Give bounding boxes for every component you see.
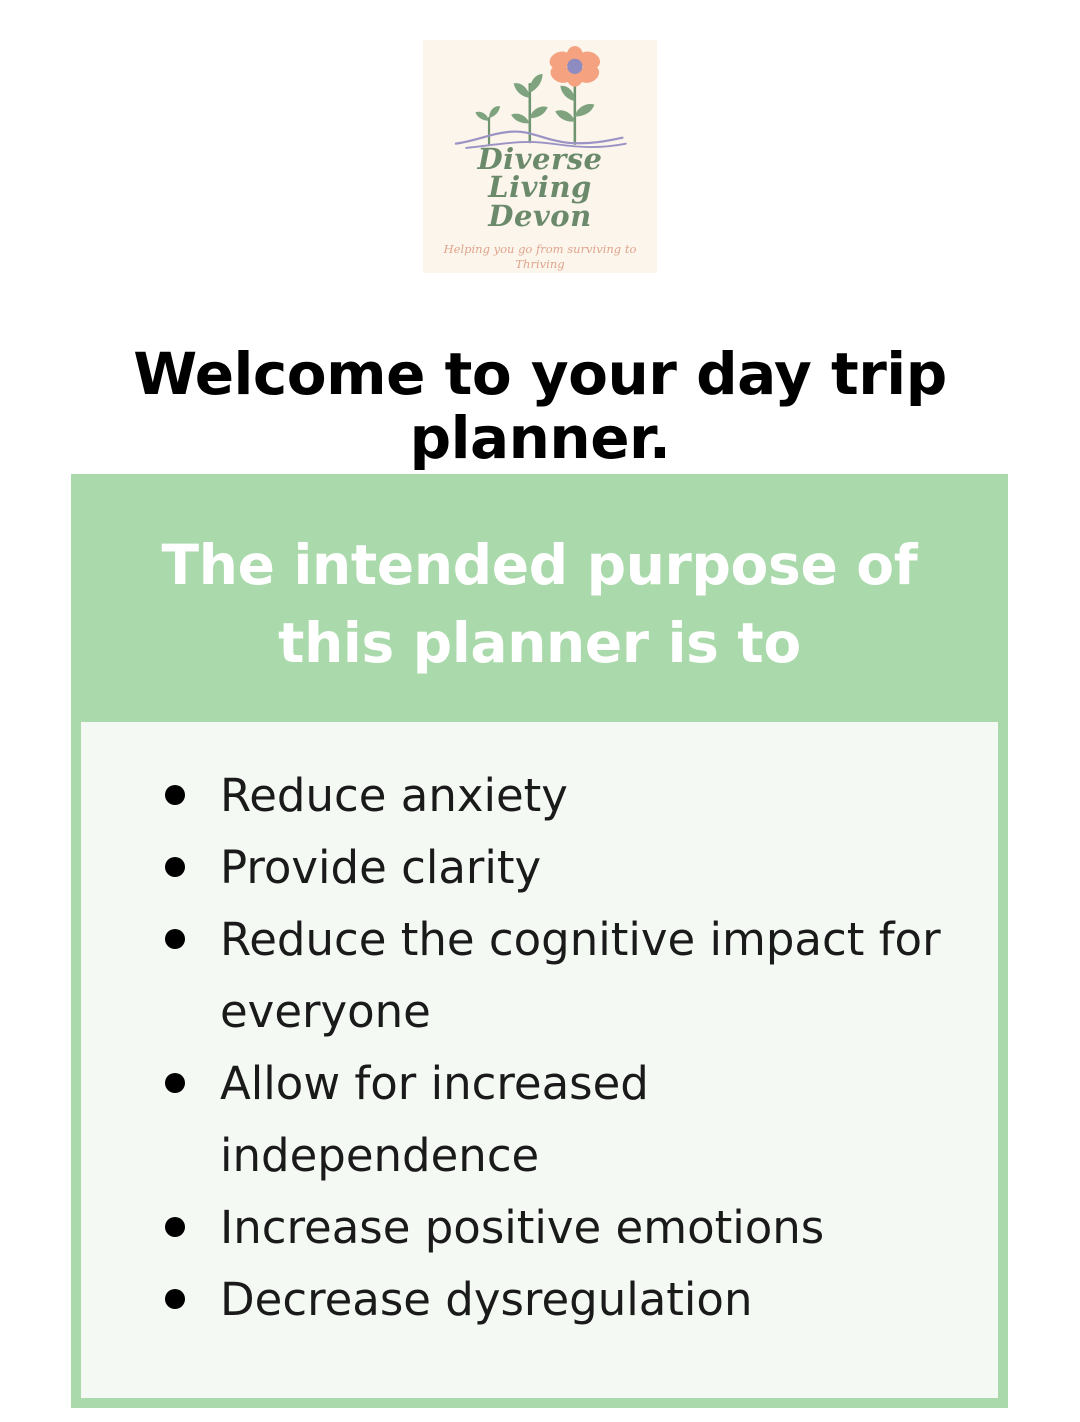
sprout-medium-leaf-upper-left [514,83,530,98]
list-item: Provide clarity [165,832,968,904]
list-item-label: Provide clarity [220,832,968,904]
page-title: Welcome to your day trip planner. [0,343,1080,471]
list-item: Reduce the cognitive impact for everyone [165,904,968,1048]
flower-leaf-left [555,110,575,121]
brand-wordmark: Diverse Living Devon [423,145,657,230]
bullet-icon [165,1289,185,1309]
purpose-card-header-text: The intended purpose of this planner is … [119,526,960,682]
list-item: Reduce anxiety [165,760,968,832]
sprout-medium-leaf-lower-right [530,106,548,118]
brand-tagline: Helping you go from surviving to Thrivin… [440,242,640,273]
list-item: Increase positive emotions [165,1192,968,1264]
list-item: Allow for increased independence [165,1048,968,1192]
sprout-small-leaf-left [475,112,489,121]
flower-leaf-upper [560,86,574,101]
sprout-small-leaf-right [489,106,500,118]
list-item-label: Allow for increased independence [220,1048,968,1192]
list-item-label: Reduce anxiety [220,760,968,832]
brand-logo: Diverse Living Devon Helping you go from… [423,40,657,273]
growing-plants-illustration [423,40,657,149]
list-item-label: Decrease dysregulation [220,1264,968,1336]
bullet-icon [165,857,185,877]
bullet-icon [165,1217,185,1237]
bullet-icon [165,1073,185,1093]
purpose-card-header: The intended purpose of this planner is … [71,474,1008,722]
list-item-label: Reduce the cognitive impact for everyone [220,904,968,1048]
purpose-card: The intended purpose of this planner is … [71,474,1008,1408]
purpose-list: Reduce anxiety Provide clarity Reduce th… [111,760,968,1336]
list-item: Decrease dysregulation [165,1264,968,1336]
logo-section: Diverse Living Devon Helping you go from… [0,0,1080,273]
purpose-card-body: Reduce anxiety Provide clarity Reduce th… [81,722,998,1336]
brand-wordmark-line-1: Diverse Living [423,145,657,202]
flower-leaf-right [575,104,595,116]
bullet-icon [165,785,185,805]
list-item-label: Increase positive emotions [220,1192,968,1264]
sprout-medium-leaf-upper-right [530,74,543,93]
brand-wordmark-line-2: Devon [423,202,657,230]
bullet-icon [165,929,185,949]
flower-head [547,46,602,87]
sprout-medium-leaf-lower-left [511,114,530,124]
